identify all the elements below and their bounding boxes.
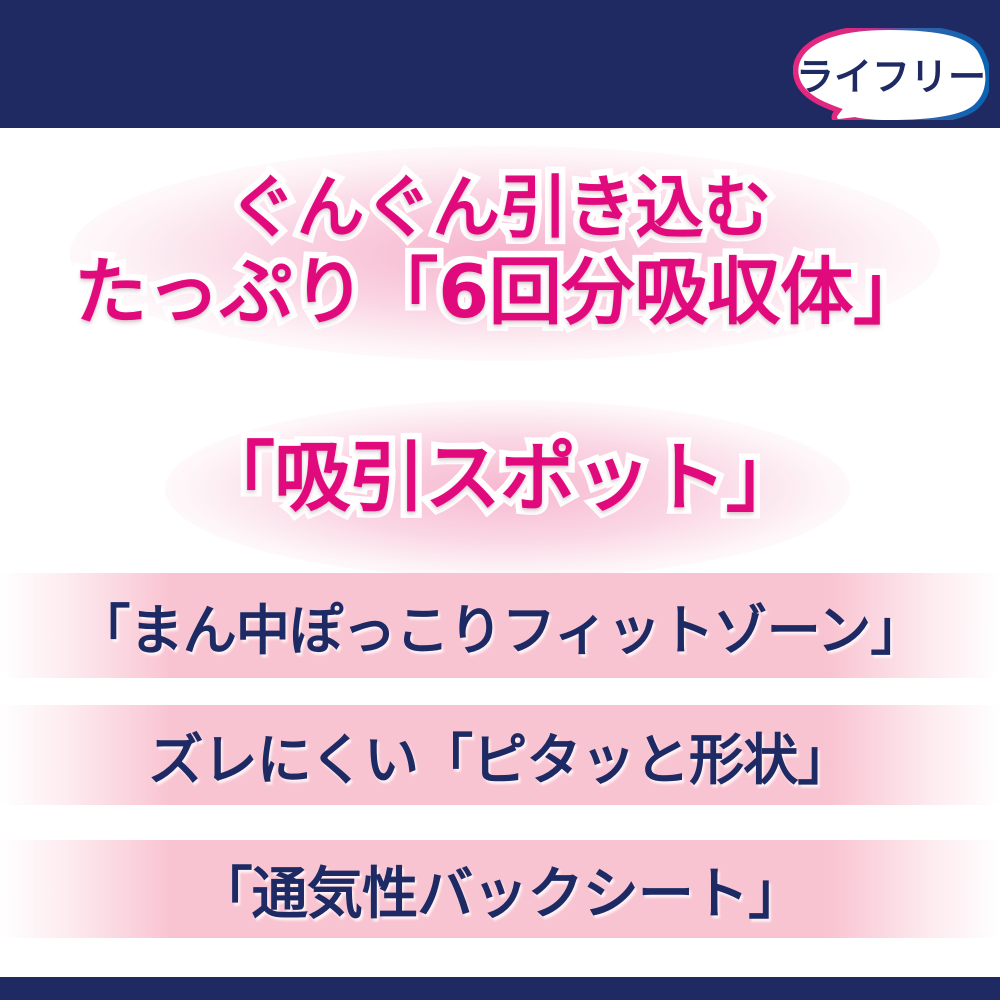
secondary-headline: 「吸引スポット」 (0, 426, 1000, 530)
content-stage: ぐんぐん引き込む たっぷり「6回分吸収体」 「吸引スポット」 「まん中ぽっこりフ… (0, 128, 1000, 977)
feature-band-shape: ズレにくい「ピタッと形状」 (0, 705, 1000, 805)
logo-wordmark-text: ライフリー (796, 55, 986, 99)
feature-band-label: ズレにくい「ピタッと形状」 (148, 715, 851, 795)
feature-band-label: 「まん中ぽっこりフィットゾーン」 (76, 586, 923, 665)
primary-headline: ぐんぐん引き込む たっぷり「6回分吸収体」 (0, 168, 1000, 336)
feature-band-fit-zone: 「まん中ぽっこりフィットゾーン」 (0, 573, 1000, 678)
primary-headline-line-1: ぐんぐん引き込む (0, 168, 1000, 250)
bottom-navy-footer-bar (0, 977, 1000, 1000)
product-feature-panel: ライフリー ぐんぐん引き込む たっぷり「6回分吸収体」 「吸引スポット」 「まん… (0, 0, 1000, 1000)
lifree-brand-logo: ライフリー (793, 28, 989, 120)
primary-headline-line-2: たっぷり「6回分吸収体」 (0, 250, 1000, 336)
feature-band-label: 「通気性バックシート」 (197, 849, 804, 930)
feature-band-backsheet: 「通気性バックシート」 (0, 840, 1000, 938)
